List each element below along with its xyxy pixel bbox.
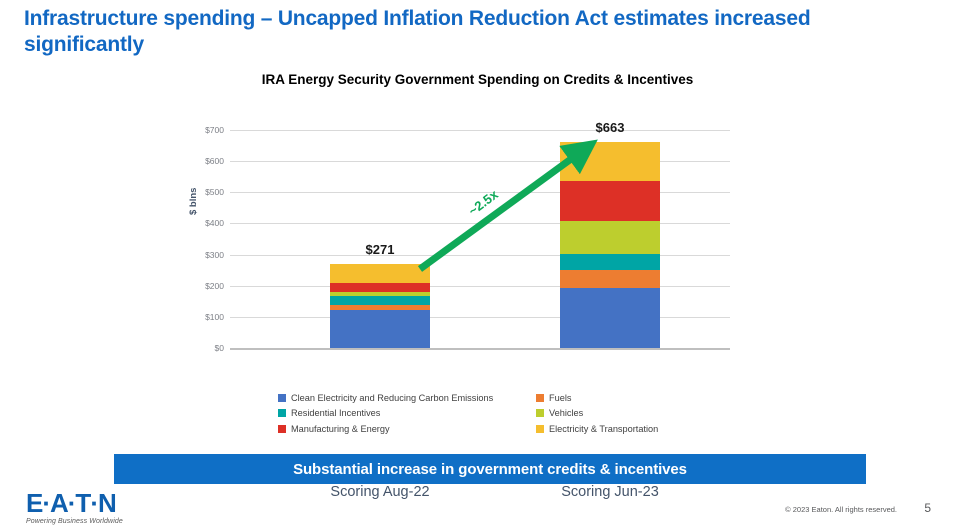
legend-swatch-icon (536, 425, 544, 433)
x-axis-label-1: Scoring Aug-22 (270, 484, 490, 500)
y-axis-tick: $100 (154, 312, 224, 322)
page-number: 5 (924, 501, 931, 515)
bar-segment[interactable] (560, 288, 660, 348)
y-axis-tick: $0 (154, 343, 224, 353)
legend-swatch-icon (278, 409, 286, 417)
y-axis-tick: $500 (154, 187, 224, 197)
legend-item[interactable]: Vehicles (536, 408, 698, 418)
legend-swatch-icon (278, 425, 286, 433)
bar-segment[interactable] (330, 310, 430, 348)
legend-item[interactable]: Manufacturing & Energy (278, 424, 536, 434)
legend-item[interactable]: Clean Electricity and Reducing Carbon Em… (278, 393, 536, 403)
legend-item[interactable]: Electricity & Transportation (536, 424, 698, 434)
growth-arrow-icon (410, 135, 610, 280)
y-axis-tick: $700 (154, 125, 224, 135)
legend-label: Residential Incentives (291, 408, 380, 418)
logo-tagline: Powering Business Worldwide (26, 518, 146, 525)
gridline (230, 348, 730, 350)
y-axis-tick: $400 (154, 218, 224, 228)
eaton-logo: E·A·T·N Powering Business Worldwide (26, 490, 146, 526)
x-axis-label-2: Scoring Jun-23 (500, 484, 720, 500)
bar-total-label: $663 (550, 120, 670, 135)
takeaway-banner: Substantial increase in government credi… (114, 454, 866, 484)
legend-item[interactable]: Residential Incentives (278, 408, 536, 418)
legend-item[interactable]: Fuels (536, 393, 698, 403)
legend-swatch-icon (536, 409, 544, 417)
chart-title: IRA Energy Security Government Spending … (0, 72, 955, 87)
legend-label: Clean Electricity and Reducing Carbon Em… (291, 393, 493, 403)
legend-label: Fuels (549, 393, 571, 403)
y-axis-tick: $200 (154, 281, 224, 291)
bar-segment[interactable] (330, 283, 430, 292)
legend-swatch-icon (536, 394, 544, 402)
y-axis-tick: $300 (154, 250, 224, 260)
y-axis-tick: $600 (154, 156, 224, 166)
bar-segment[interactable] (330, 296, 430, 305)
legend-label: Electricity & Transportation (549, 424, 658, 434)
legend-label: Vehicles (549, 408, 583, 418)
logo-wordmark: E·A·T·N (26, 490, 146, 516)
legend-swatch-icon (278, 394, 286, 402)
chart-legend: Clean Electricity and Reducing Carbon Em… (278, 390, 698, 437)
copyright-text: © 2023 Eaton. All rights reserved. (785, 505, 897, 514)
chart-container: IRA Energy Security Government Spending … (0, 0, 955, 531)
legend-label: Manufacturing & Energy (291, 424, 390, 434)
